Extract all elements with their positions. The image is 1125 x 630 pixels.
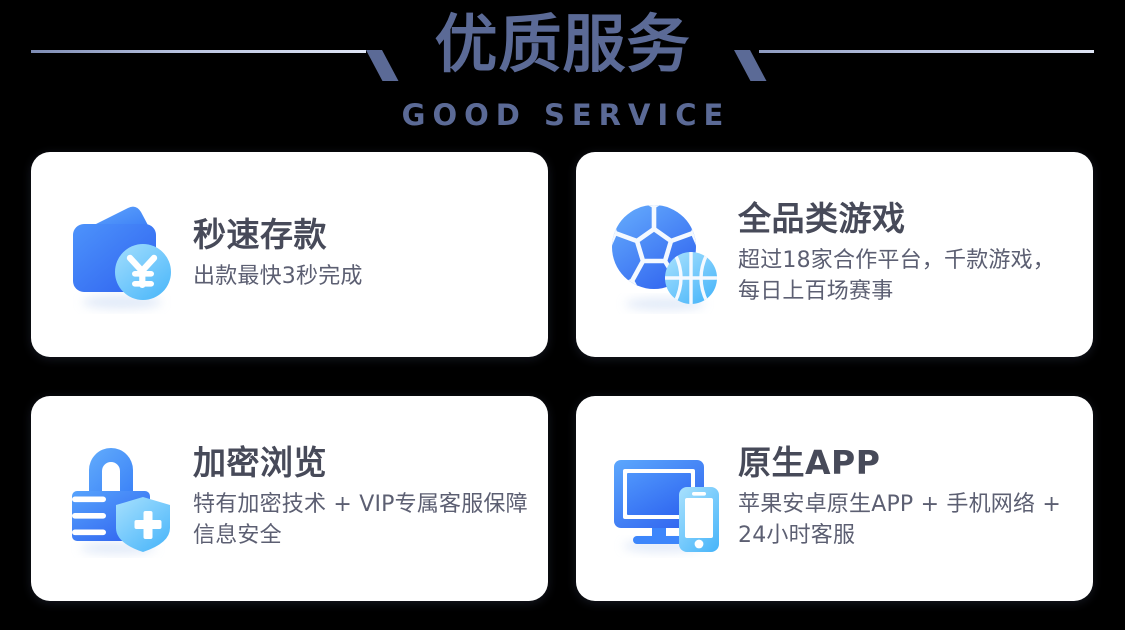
card-title: 秒速存款 <box>193 217 528 254</box>
card-description: 苹果安卓原生APP + 手机网络 + 24小时客服 <box>738 489 1073 551</box>
feature-card-games[interactable]: 全品类游戏 超过18家合作平台，千款游戏，每日上百场赛事 <box>576 152 1093 357</box>
card-text-block: 加密浏览 特有加密技术 + VIP专属客服保障信息安全 <box>193 445 528 551</box>
card-title: 全品类游戏 <box>738 201 1073 238</box>
card-text-block: 原生APP 苹果安卓原生APP + 手机网络 + 24小时客服 <box>738 445 1073 551</box>
card-description: 出款最快3秒完成 <box>193 261 528 292</box>
feature-card-encryption[interactable]: 加密浏览 特有加密技术 + VIP专属客服保障信息安全 <box>31 396 548 601</box>
monitor-phone-icon <box>602 435 730 563</box>
soccer-basketball-icon <box>602 191 730 319</box>
page-title: 优质服务 <box>0 6 1125 85</box>
feature-card-grid: 秒速存款 出款最快3秒完成 <box>31 152 1093 601</box>
page-subtitle: GOOD SERVICE <box>0 98 1125 132</box>
feature-card-deposit[interactable]: 秒速存款 出款最快3秒完成 <box>31 152 548 357</box>
card-description: 特有加密技术 + VIP专属客服保障信息安全 <box>193 489 528 551</box>
card-title: 原生APP <box>738 445 1073 482</box>
wallet-yen-icon <box>57 191 185 319</box>
feature-card-native-app[interactable]: 原生APP 苹果安卓原生APP + 手机网络 + 24小时客服 <box>576 396 1093 601</box>
card-title: 加密浏览 <box>193 445 528 482</box>
lock-shield-icon <box>57 435 185 563</box>
page-header: 优质服务 GOOD SERVICE <box>0 0 1125 140</box>
card-text-block: 秒速存款 出款最快3秒完成 <box>193 217 528 292</box>
card-description: 超过18家合作平台，千款游戏，每日上百场赛事 <box>738 245 1073 307</box>
card-text-block: 全品类游戏 超过18家合作平台，千款游戏，每日上百场赛事 <box>738 201 1073 307</box>
